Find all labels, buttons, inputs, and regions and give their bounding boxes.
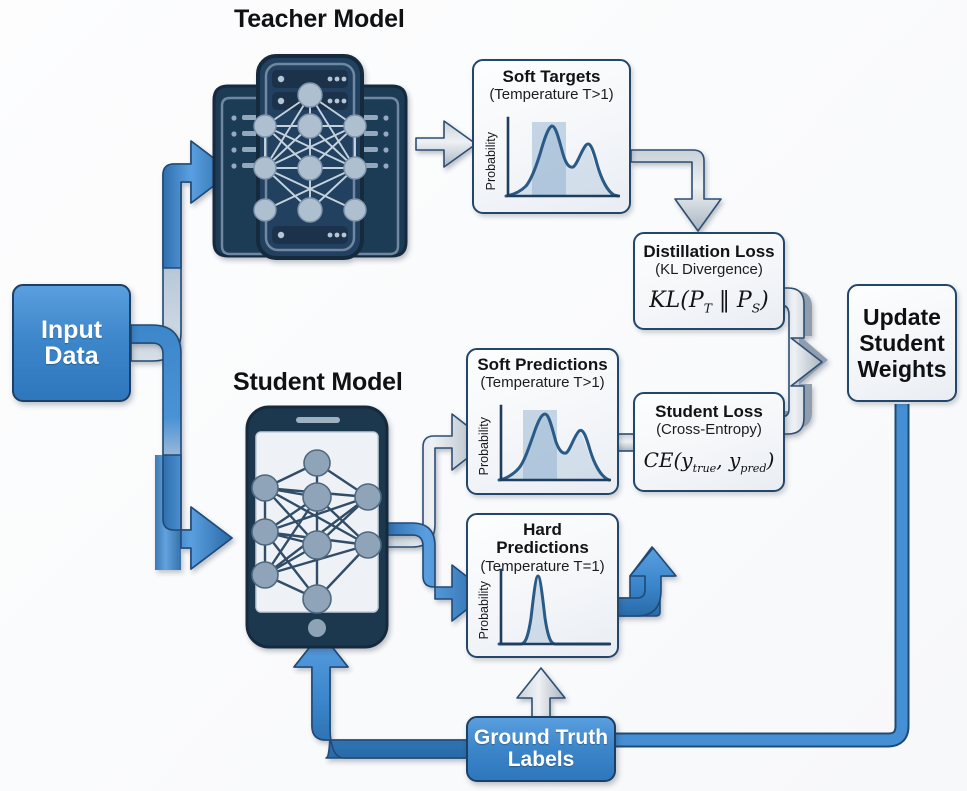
formula-sub-2: S (752, 301, 760, 315)
soft-predictions-node[interactable]: Soft Predictions (Temperature T>1) Proba… (466, 348, 619, 495)
distillation-loss-title: Distillation Loss (643, 243, 775, 261)
student-loss-formula: CE(ytrue, ypred) (643, 448, 775, 475)
soft-targets-chart (498, 114, 624, 208)
soft-targets-node[interactable]: Soft Targets (Temperature T>1) Probabili… (472, 59, 631, 214)
soft-predictions-ylabel: Probability (476, 417, 491, 475)
formula-mid: ‖ P (712, 288, 752, 313)
student-loss-subtitle: (Cross-Entropy) (643, 422, 775, 439)
formula-sub-1: true (693, 462, 717, 475)
formula-mid: , y (716, 448, 740, 472)
soft-targets-plot-wrap: Probability (483, 114, 624, 208)
arrow-ground-truth-to-hard-predictions (517, 668, 565, 718)
student-model-heading: Student Model (233, 368, 403, 397)
smartphone-neural-network-icon (247, 407, 387, 647)
input-data-label: Input Data (41, 317, 102, 370)
hard-predictions-chart (491, 566, 614, 654)
distillation-diagram: Teacher Model Student Model Input Data S… (0, 0, 967, 791)
hard-predictions-ylabel: Probability (476, 581, 491, 639)
soft-predictions-title: Soft Predictions (476, 356, 609, 374)
student-loss-node[interactable]: Student Loss (Cross-Entropy) CE(ytrue, y… (633, 392, 785, 492)
arrow-ground-truth-to-student (294, 633, 468, 758)
update-student-weights-node[interactable]: Update Student Weights (847, 284, 957, 402)
soft-predictions-plot-wrap: Probability (476, 402, 614, 491)
soft-targets-title: Soft Targets (483, 68, 620, 86)
hard-predictions-title: Hard Predictions (476, 521, 609, 558)
soft-predictions-subtitle: (Temperature T>1) (476, 375, 609, 392)
input-data-node[interactable]: Input Data (12, 284, 131, 402)
teacher-model-heading: Teacher Model (234, 5, 405, 34)
formula-tail: ) (767, 448, 775, 472)
formula-sub-2: pred (740, 462, 766, 475)
distillation-loss-node[interactable]: Distillation Loss (KL Divergence) KL(PT … (633, 232, 785, 330)
formula-sub-1: T (704, 301, 712, 315)
formula-lead: CE(y (644, 448, 693, 472)
hard-predictions-plot-wrap: Probability (476, 566, 614, 654)
hard-predictions-node[interactable]: Hard Predictions (Temperature T=1) Proba… (466, 513, 619, 658)
update-student-weights-label: Update Student Weights (857, 304, 946, 383)
ground-truth-labels-node[interactable]: Ground Truth Labels (466, 716, 616, 782)
arrow-teacher-to-soft-targets (416, 121, 476, 167)
formula-lead: KL(P (649, 288, 703, 313)
formula-tail: ) (760, 288, 769, 313)
server-rack-neural-network-icon (214, 56, 406, 258)
arrow-ground-truth-to-student-loss (616, 547, 676, 616)
soft-targets-subtitle: (Temperature T>1) (483, 87, 620, 104)
ground-truth-labels-label: Ground Truth Labels (474, 727, 608, 772)
soft-predictions-chart (491, 402, 614, 491)
distillation-loss-subtitle: (KL Divergence) (643, 262, 775, 279)
student-loss-title: Student Loss (643, 403, 775, 421)
distillation-loss-formula: KL(PT ‖ PS) (643, 288, 775, 315)
arrow-soft-targets-to-distillation (631, 150, 721, 231)
soft-targets-ylabel: Probability (483, 132, 498, 190)
